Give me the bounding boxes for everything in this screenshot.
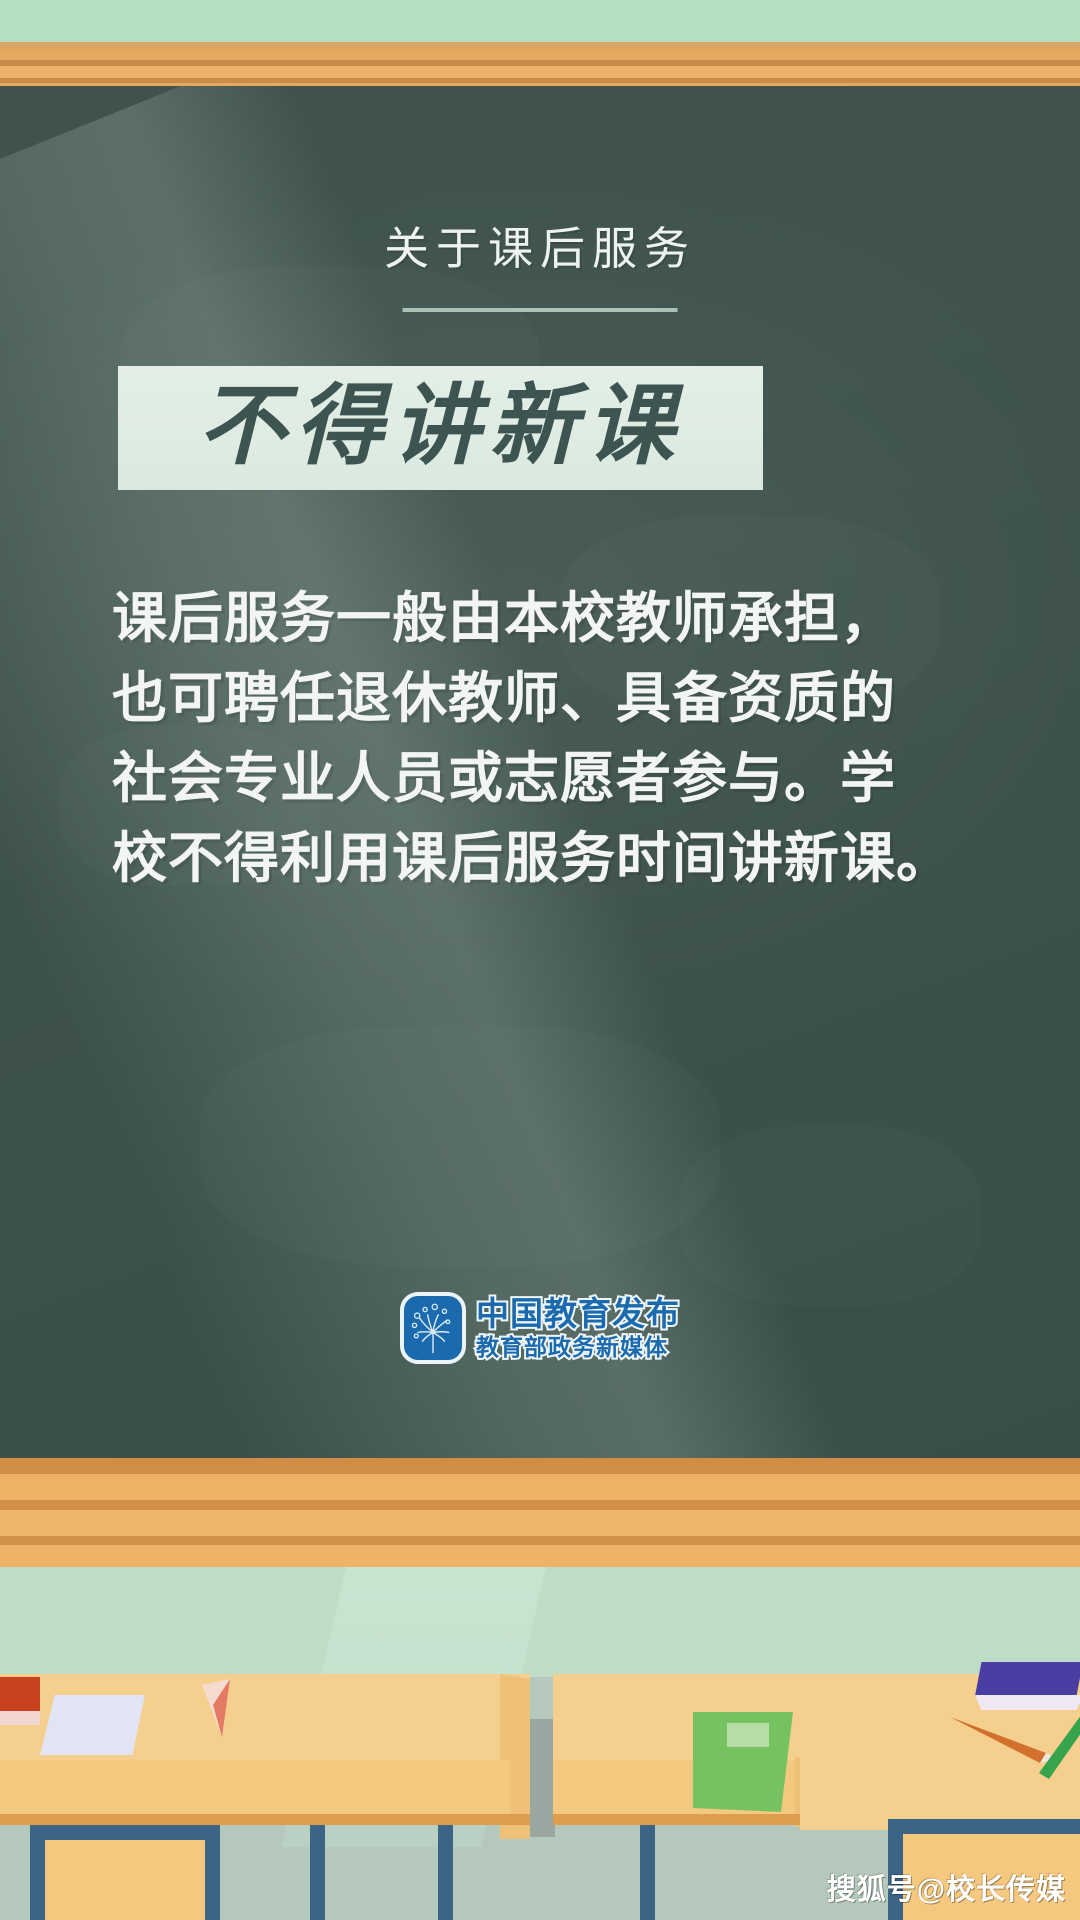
bottom-frame-band-5 (0, 1536, 1080, 1545)
body-line-1: 课后服务一般由本校教师承担， (112, 578, 792, 658)
kicker-title: 关于课后服务 (378, 212, 702, 291)
source-watermark: 搜狐号@校长传媒 (827, 1866, 1066, 1908)
green-pencil-icon (1035, 1707, 1080, 1782)
bottom-frame-band-3 (0, 1500, 1080, 1510)
logo-text: 中国教育发布 教育部政务新媒体 (476, 1297, 680, 1359)
headline-text: 不得讲新课 (198, 382, 683, 470)
body-copy: 课后服务一般由本校教师承担， 也可聘任退休教师、具备资质的 社会专业人员或志愿者… (112, 578, 792, 898)
logo-main-title: 中国教育发布 (476, 1297, 680, 1330)
body-line-3: 社会专业人员或志愿者参与。学 (112, 738, 792, 818)
room-wall (0, 1567, 1080, 1677)
chair-left-post-2 (438, 1825, 453, 1920)
green-notebook-label (727, 1723, 769, 1747)
bottom-frame-band-1 (0, 1458, 1080, 1474)
paper-airplane-icon (200, 1679, 244, 1741)
kicker-underline (403, 308, 678, 312)
bottom-frame-band-2 (0, 1474, 1080, 1500)
brand-logo: 中国教育发布 教育部政务新媒体 (400, 1292, 680, 1364)
desk-left-front (0, 1760, 510, 1818)
chalk-smudge (200, 1026, 720, 1266)
frame-band-2 (0, 49, 1080, 60)
logo-sub-title: 教育部政务新媒体 (476, 1336, 680, 1359)
top-wall (0, 0, 1080, 42)
chalk-smudge (680, 1126, 980, 1306)
chair-right-post (640, 1825, 655, 1920)
frame-band-1 (0, 42, 1080, 49)
bottom-frame-band-6 (0, 1545, 1080, 1567)
body-line-4: 校不得利用课后服务时间讲新课。 (112, 818, 792, 898)
chair-left-seat (45, 1840, 205, 1920)
frame-band-4 (0, 66, 1080, 78)
white-paper-sheet (40, 1695, 145, 1755)
body-line-2: 也可聘任退休教师、具备资质的 (112, 658, 792, 738)
purple-book (975, 1662, 1080, 1696)
headline-box: 不得讲新课 (118, 366, 763, 490)
red-book-pages (0, 1711, 40, 1725)
kicker-wrap: 关于课后服务 (0, 212, 1080, 291)
poster-canvas: 关于课后服务 不得讲新课 课后服务一般由本校教师承担， 也可聘任退休教师、具备资… (0, 0, 1080, 1920)
chair-left-post (310, 1825, 325, 1920)
red-book (0, 1677, 40, 1711)
bottom-frame-band-4 (0, 1510, 1080, 1536)
dandelion-icon (400, 1292, 466, 1364)
desk-left-edge (0, 1814, 530, 1825)
desk-right-edge (553, 1814, 825, 1825)
